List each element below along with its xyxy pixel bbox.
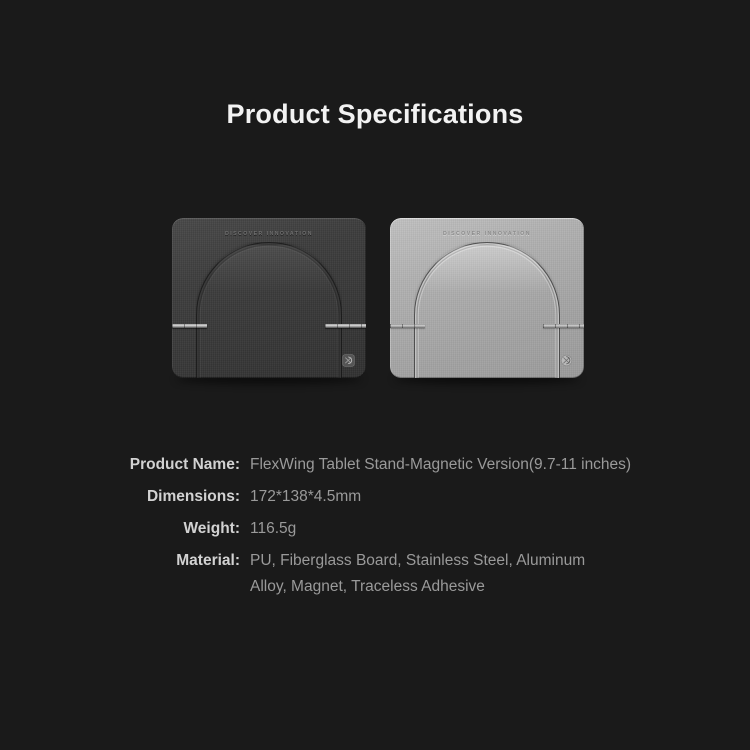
product-image-grey[interactable]: DISCOVER INNOVATION	[390, 218, 584, 378]
spec-list: Product Name: FlexWing Tablet Stand-Magn…	[0, 452, 750, 606]
hinge-strip-right-grey	[543, 324, 584, 328]
spec-value-line: FlexWing Tablet Stand-Magnetic Version(9…	[250, 452, 631, 478]
product-image-black[interactable]: DISCOVER INNOVATION	[172, 218, 366, 378]
product-tagline-black: DISCOVER INNOVATION	[172, 231, 366, 238]
spec-row-material: Material: PU, Fiberglass Board, Stainles…	[0, 548, 750, 600]
spec-label-material: Material:	[105, 548, 240, 574]
nillkin-logo-icon	[342, 354, 355, 367]
spec-label-dimensions: Dimensions:	[105, 484, 240, 510]
product-gallery: DISCOVER INNOVATION DISCOVER INNOVATION	[0, 218, 750, 380]
spec-label-product-name: Product Name:	[105, 452, 240, 478]
product-specifications-page: Product Specifications DISCOVER INNOVATI…	[0, 0, 750, 750]
arch-outline-black	[196, 242, 342, 378]
product-tagline-grey: DISCOVER INNOVATION	[390, 231, 584, 238]
hinge-strip-left-grey	[390, 324, 425, 328]
product-arch-black	[196, 242, 342, 378]
hinge-strip-left-black	[172, 324, 207, 328]
hinge-strip-right-black	[325, 324, 366, 328]
product-arch-grey	[414, 242, 560, 378]
page-title: Product Specifications	[0, 96, 750, 132]
spec-row-product-name: Product Name: FlexWing Tablet Stand-Magn…	[0, 452, 750, 478]
nillkin-logo-icon	[560, 354, 573, 367]
arch-outline-grey	[414, 242, 560, 378]
spec-row-dimensions: Dimensions: 172*138*4.5mm	[0, 484, 750, 510]
spec-label-weight: Weight:	[105, 516, 240, 542]
spec-value-line: PU, Fiberglass Board, Stainless Steel, A…	[250, 548, 585, 574]
spec-row-weight: Weight: 116.5g	[0, 516, 750, 542]
spec-value-product-name: FlexWing Tablet Stand-Magnetic Version(9…	[250, 452, 631, 478]
spec-value-material: PU, Fiberglass Board, Stainless Steel, A…	[250, 548, 585, 600]
spec-value-weight: 116.5g	[250, 516, 296, 542]
spec-value-line: Alloy, Magnet, Traceless Adhesive	[250, 574, 585, 600]
spec-value-line: 172*138*4.5mm	[250, 484, 361, 510]
spec-value-line: 116.5g	[250, 516, 296, 542]
spec-value-dimensions: 172*138*4.5mm	[250, 484, 361, 510]
